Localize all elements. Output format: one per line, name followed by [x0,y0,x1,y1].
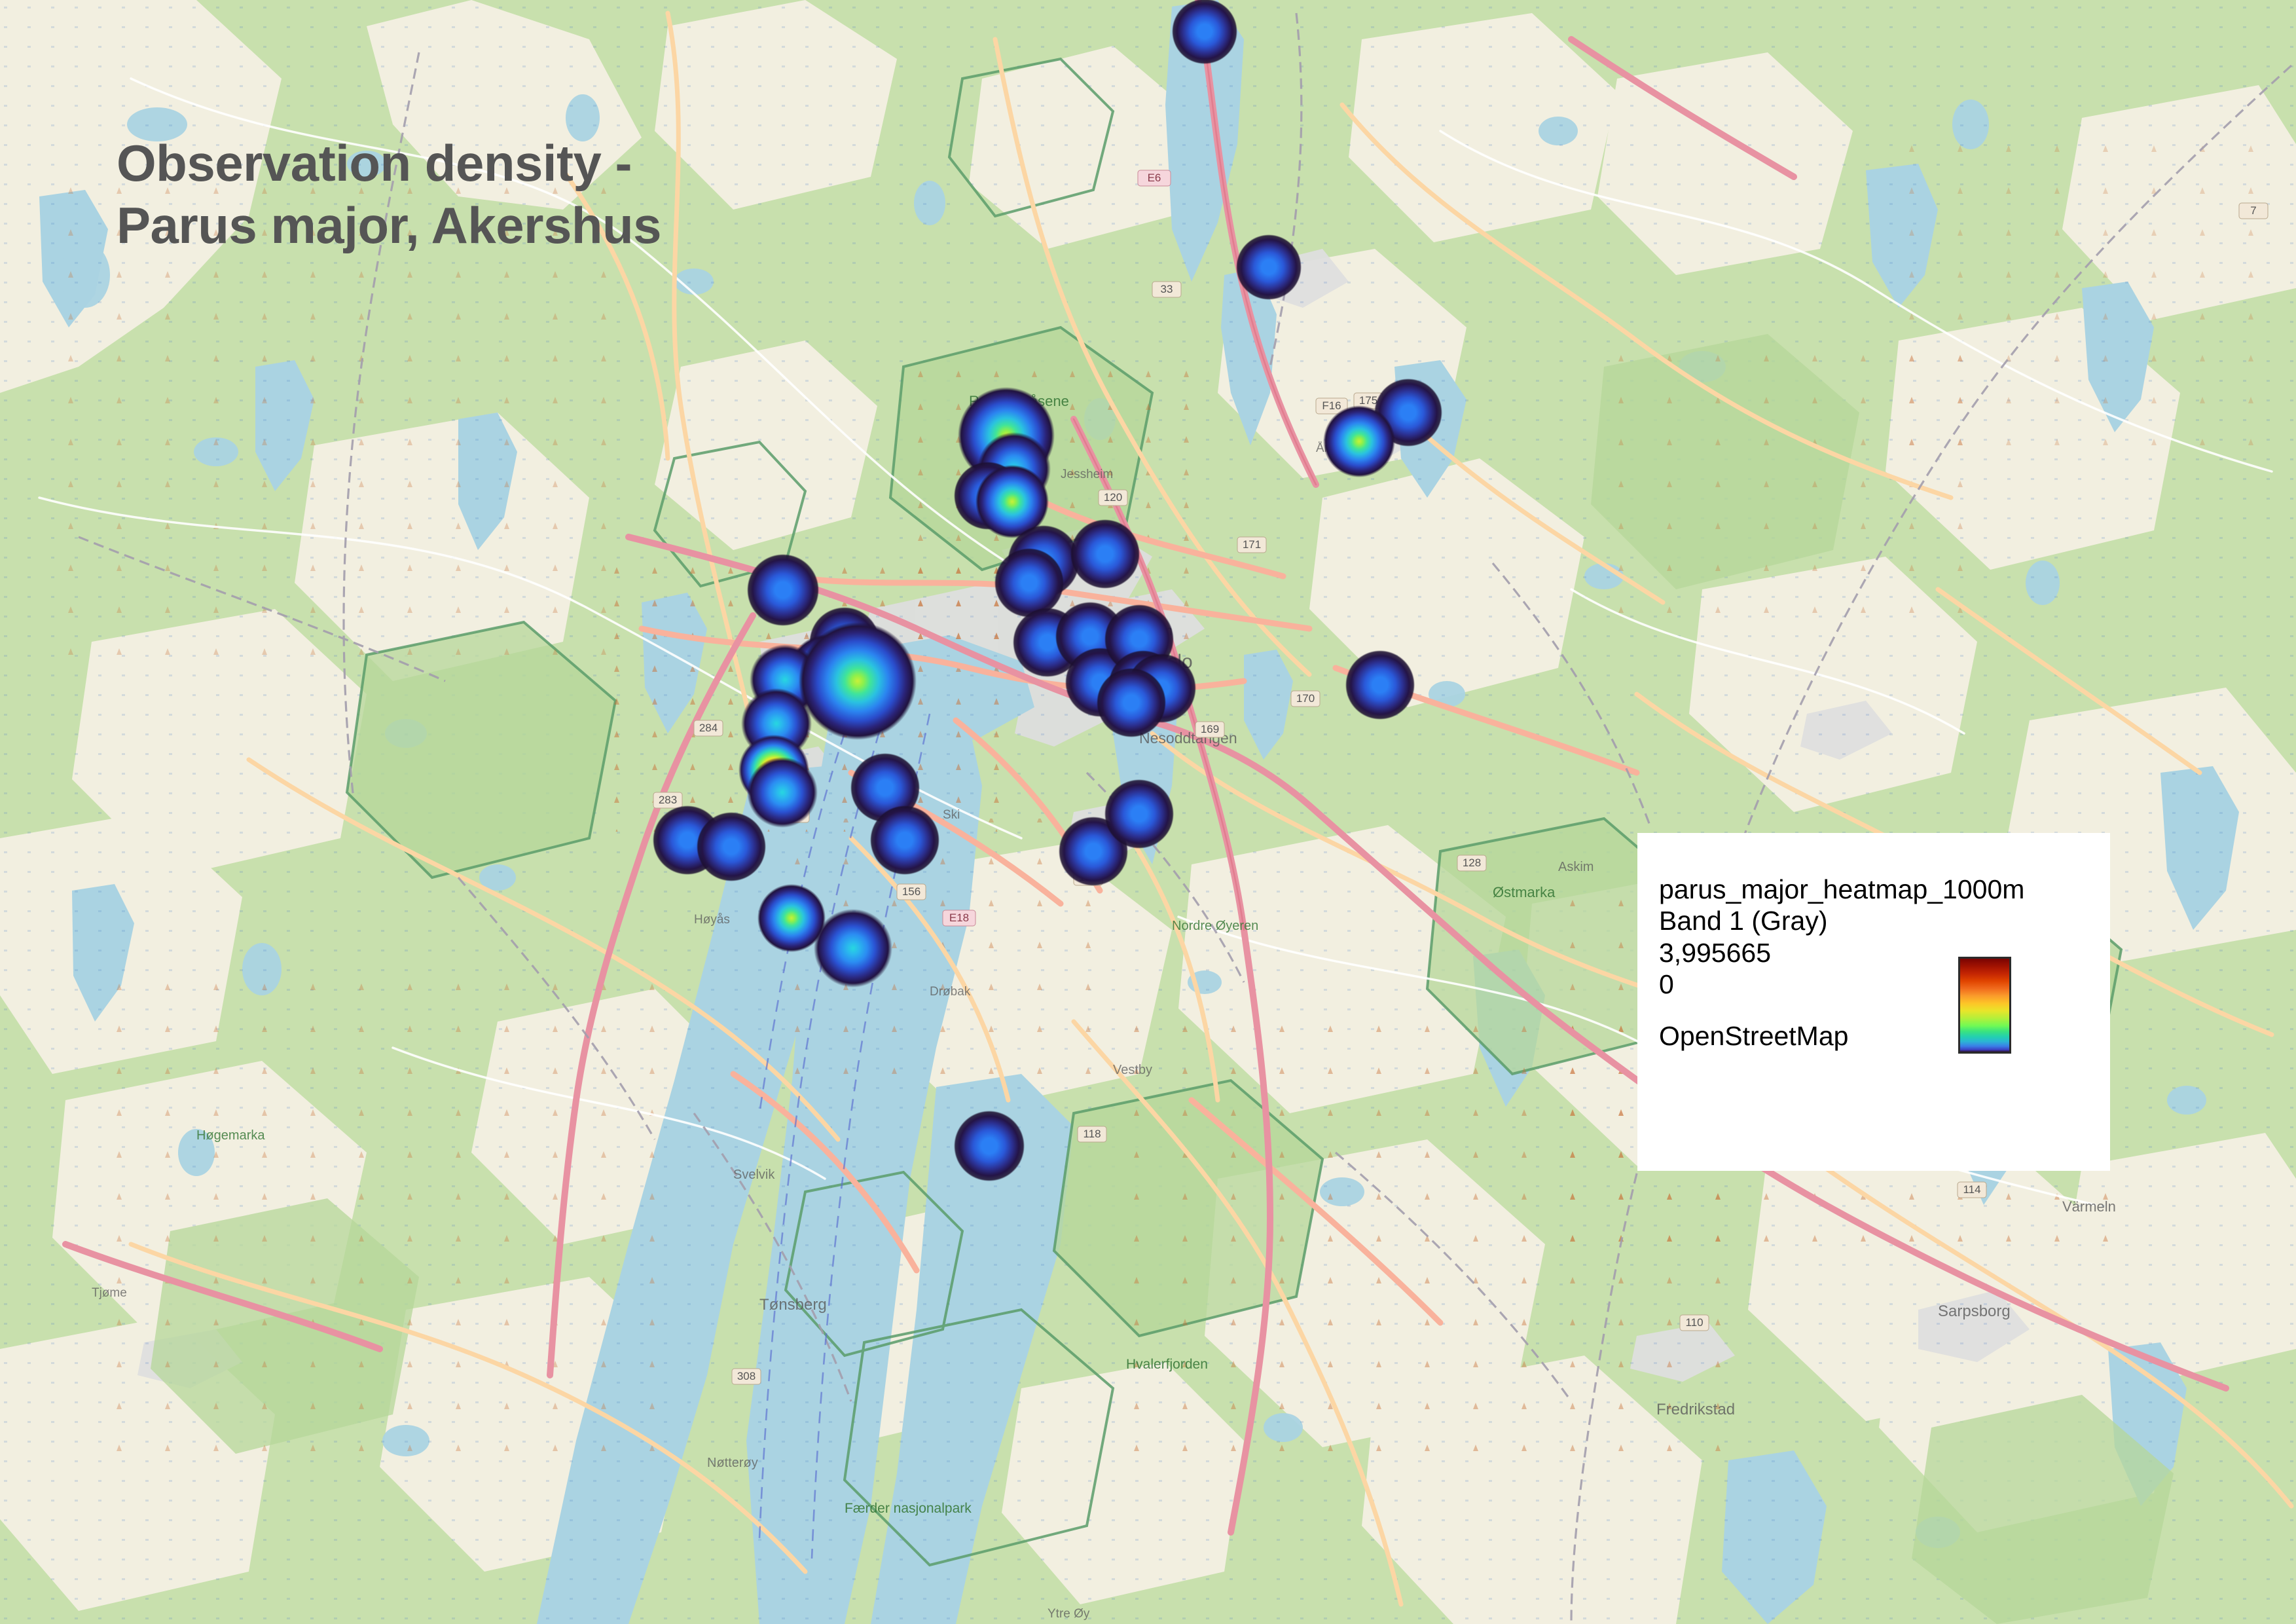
svg-text:171: 171 [1243,538,1261,551]
shield: 118 [1078,1126,1106,1142]
svg-text:128: 128 [1463,857,1481,869]
svg-text:110: 110 [1685,1316,1703,1329]
svg-text:118: 118 [1083,1128,1101,1140]
label-faerder: Færder nasjonalpark [845,1501,972,1516]
label-yyoy: Ytre Øy [1048,1607,1090,1621]
legend-max-value: 3,995665 [1659,937,2110,969]
svg-text:E6: E6 [1148,172,1161,184]
label-arnes: Årnes [1316,441,1349,455]
svg-text:157: 157 [883,807,901,819]
shield: 114 [1958,1182,1986,1198]
shield: 284 [694,720,723,736]
shield: 308 [732,1369,761,1384]
shield: E6 [1138,170,1171,186]
shield: 33 [1152,282,1181,297]
page-title: Observation density - Parus major, Akers… [117,132,935,257]
label-romeriksasene: Romeriksåsene [969,393,1069,409]
label-oslo: Oslo [1152,651,1193,673]
legend-colorbar [1958,957,2011,1054]
label-nordre-oyeren: Nordre Øyeren [1172,919,1258,933]
label-hogemark: Høgemarka [196,1128,265,1143]
label-lillestrom: Lillestrøm [1113,623,1173,638]
label-jessheim: Jessheim [1061,468,1113,481]
svg-text:F16: F16 [1322,399,1341,412]
svg-text:169: 169 [1201,723,1219,735]
shield: E18 [943,910,975,926]
label-hvaler: Hvalerfjorden [1126,1357,1208,1372]
svg-text:284: 284 [699,722,718,734]
svg-text:175: 175 [1359,394,1377,407]
svg-text:E18: E18 [949,912,969,924]
label-tonsberg: Tønsberg [759,1296,827,1314]
label-varmeln: Värmeln [2062,1198,2116,1215]
shield: 110 [1680,1315,1709,1331]
label-hoyas: Høyås [694,913,730,927]
shield: 128 [1457,855,1486,871]
shield: 156 [897,884,926,900]
label-fredrikstad: Fredrikstad [1656,1401,1735,1418]
svg-text:120: 120 [1104,491,1122,504]
label-ski: Ski [943,808,960,822]
shield: 171 [1237,537,1266,553]
shield: 120 [1074,870,1102,885]
shield: F16 [1316,398,1347,414]
label-askim: Askim [1558,860,1594,874]
shield: 167 [780,807,809,822]
map-screenshot: { "title": { "text": "Observation densit… [0,0,2296,1624]
shield: 283 [653,792,682,808]
label-drobak: Drøbak [930,985,971,999]
svg-text:167: 167 [786,808,804,821]
label-notteroy: Nøtterøy [707,1456,758,1470]
shield: 157 [877,805,906,821]
shield: 169 [1195,722,1224,737]
svg-text:114: 114 [1963,1183,1980,1196]
shield: 7 [2239,203,2268,219]
shield: 175 [1354,393,1383,409]
label-svelvik: Svelvik [733,1168,775,1182]
legend-min-value: 0 [1659,969,2110,1000]
legend-panel[interactable]: parus_major_heatmap_1000m Band 1 (Gray) … [1637,833,2110,1171]
svg-text:308: 308 [737,1370,756,1382]
label-sarpsborg: Sarpsborg [1938,1302,2011,1320]
label-tjome: Tjøme [92,1286,127,1300]
svg-text:33: 33 [1161,283,1173,295]
legend-layer-name: parus_major_heatmap_1000m [1659,874,2110,905]
label-vestby: Vestby [1113,1063,1152,1077]
shield: 120 [1099,490,1127,506]
shield: 170 [1291,691,1320,707]
svg-text:283: 283 [659,794,677,806]
legend-attribution: OpenStreetMap [1659,1020,2110,1052]
svg-text:170: 170 [1296,692,1315,705]
svg-text:7: 7 [2250,204,2256,217]
legend-spacer [1659,1001,2110,1020]
legend-band-label: Band 1 (Gray) [1659,905,2110,936]
svg-text:156: 156 [902,885,920,898]
label-eidsvoll: Eidsvoll [1244,265,1286,278]
label-ostmarka: Østmarka [1493,884,1556,900]
svg-text:120: 120 [1079,871,1097,883]
